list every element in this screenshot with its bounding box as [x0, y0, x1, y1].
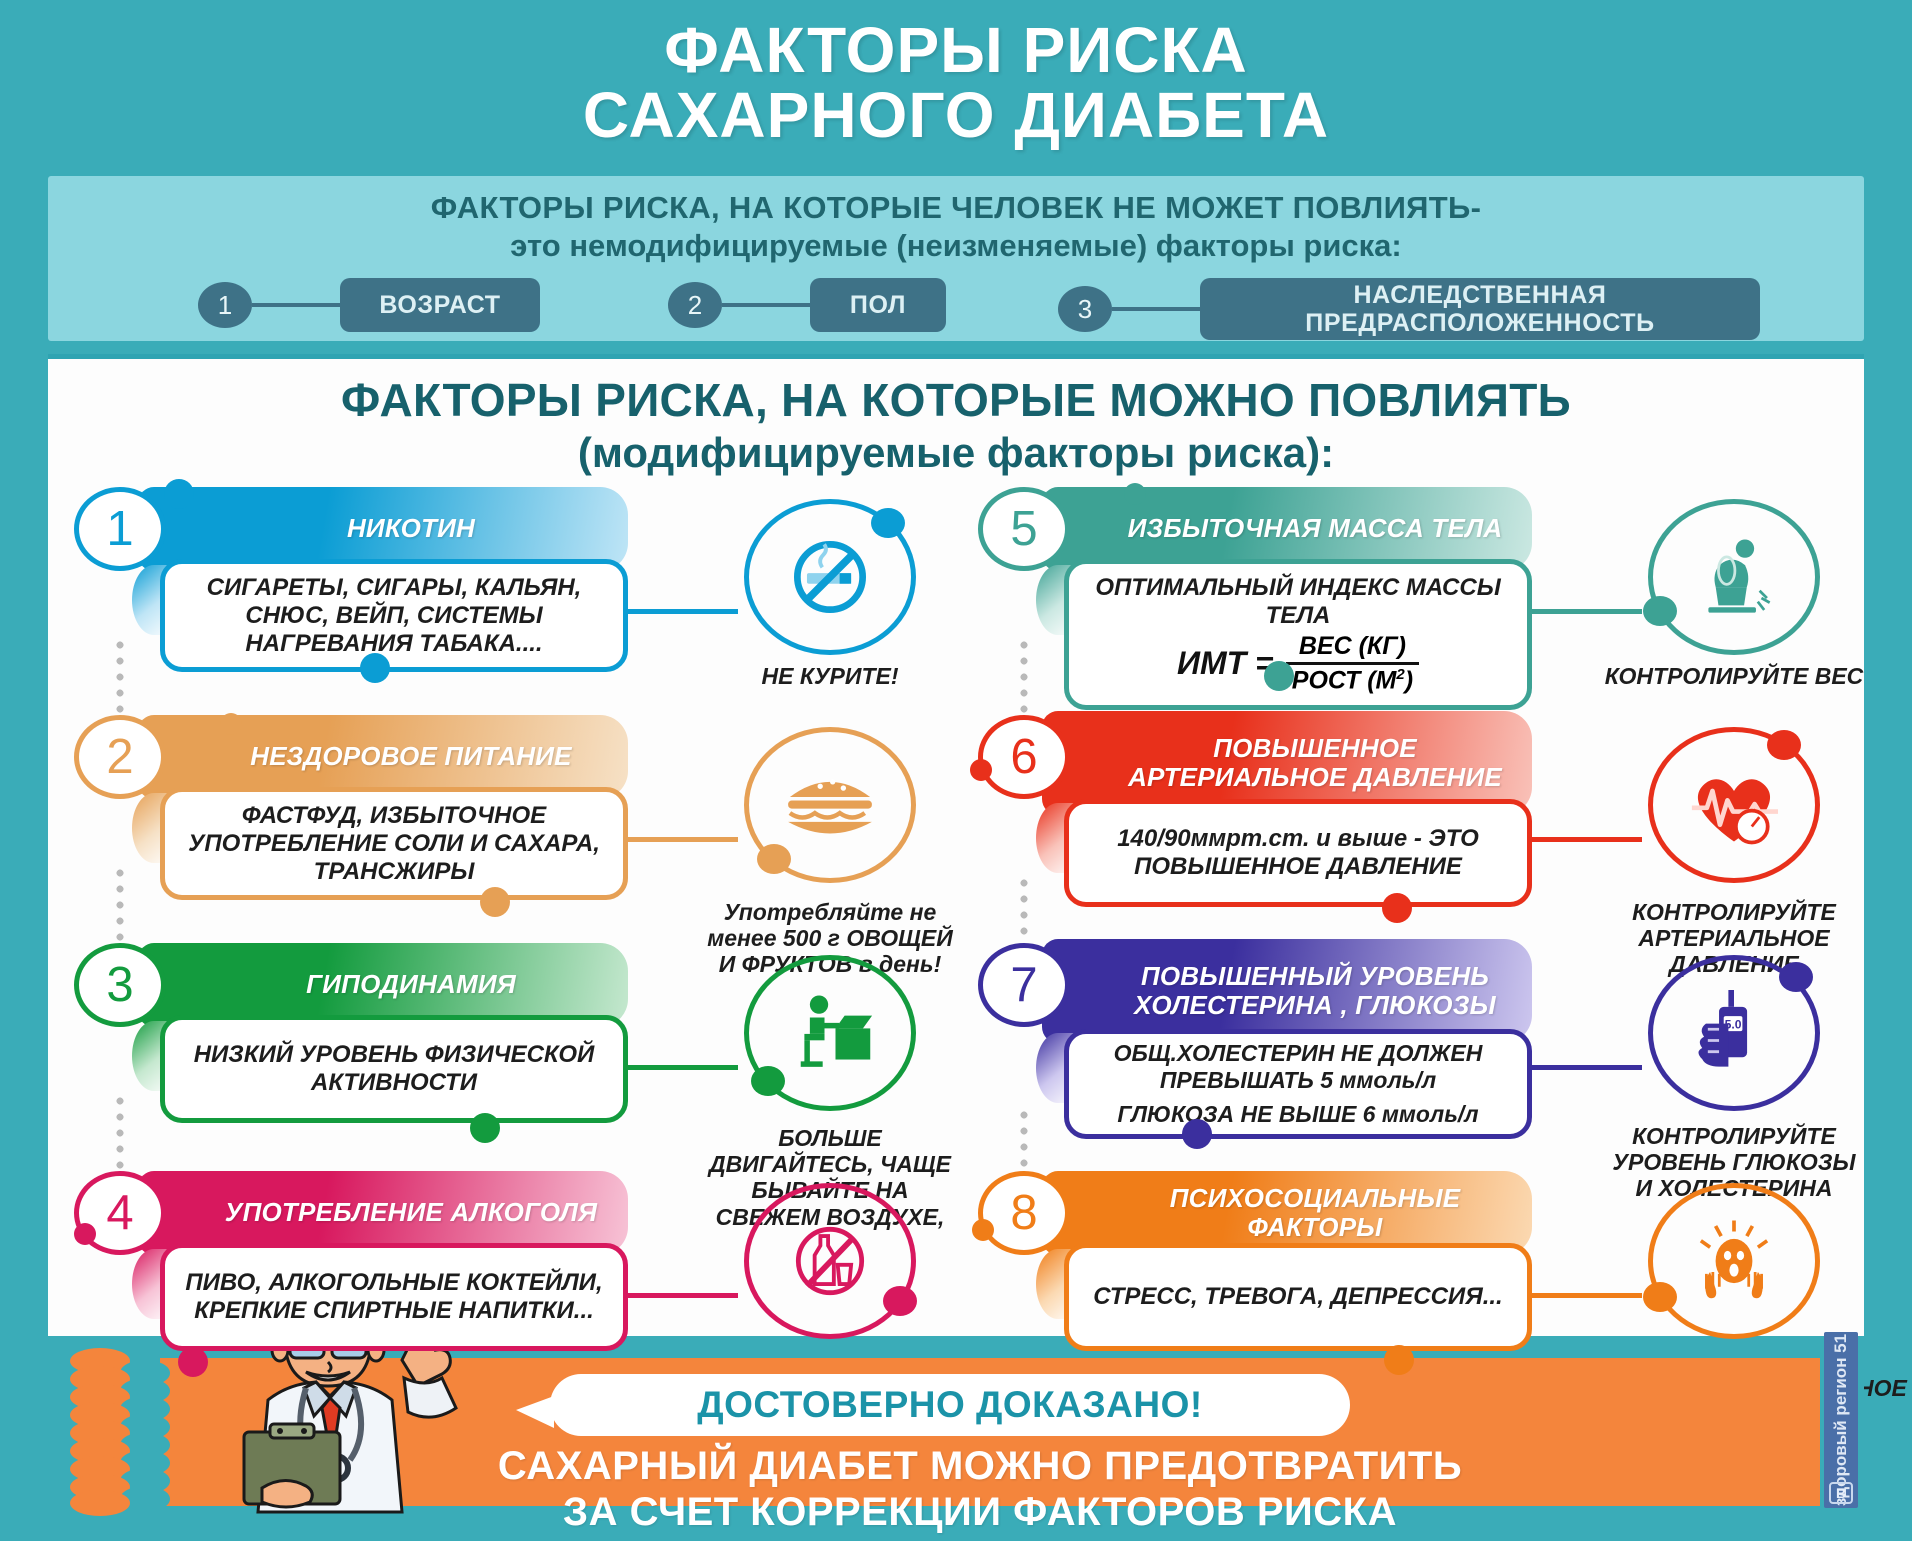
card-icon-connector — [1530, 1065, 1642, 1070]
card-dot-top — [1124, 483, 1146, 505]
card-number-badge: 1 — [74, 487, 166, 571]
card-icon-caption: КОНТРОЛИРУЙТЕ ВЕС — [1604, 663, 1864, 689]
card-dot-top — [220, 713, 242, 735]
orbit-dot — [1643, 1282, 1677, 1312]
card-icon-connector — [1530, 1293, 1642, 1298]
non-modifiable-item-3: 3 НАСЛЕДСТВЕННАЯ ПРЕДРАСПОЛОЖЕННОСТЬ — [1058, 278, 1760, 340]
title-line-2: САХАРНОГО ДИАБЕТА — [0, 83, 1912, 148]
stress-scream-icon — [1648, 1183, 1820, 1339]
card-dot-bottom — [1384, 1345, 1414, 1375]
no-alcohol-icon — [744, 1183, 916, 1339]
card-icon-block: КОНТРОЛИРУЙТЕ ВЕС — [1604, 499, 1864, 689]
non-modifiable-item-1: 1 ВОЗРАСТ — [198, 278, 540, 332]
card-body: ФАСТФУД, ИЗБЫТОЧНОЕ УПОТРЕБЛЕНИЕ СОЛИ И … — [160, 787, 628, 900]
card-body-text: СТРЕСС, ТРЕВОГА, ДЕПРЕССИЯ... — [1093, 1283, 1502, 1311]
card-body: СИГАРЕТЫ, СИГАРЫ, КАЛЬЯН, СНЮС, ВЕЙП, СИ… — [160, 559, 628, 672]
proven-speech-bubble: ДОСТОВЕРНО ДОКАЗАНО! — [550, 1374, 1350, 1436]
card-title: НЕЗДОРОВОЕ ПИТАНИЕ — [250, 742, 571, 771]
card-body-text: 140/90ммрт.ст. и выше - ЭТО ПОВЫШЕННОЕ Д… — [1085, 825, 1511, 881]
card-title: ГИПОДИНАМИЯ — [306, 970, 516, 999]
card-icon-caption: НЕ КУРИТЕ! — [700, 663, 960, 689]
orbit-dot — [1643, 596, 1677, 626]
card-icon-connector — [1530, 837, 1642, 842]
vk-badge-icon: B — [1829, 1482, 1853, 1504]
card-body: 140/90ммрт.ст. и выше - ЭТО ПОВЫШЕННОЕ Д… — [1064, 799, 1532, 907]
person-on-scale-icon — [1648, 499, 1820, 655]
orbit-dot — [883, 1286, 917, 1316]
card-body-text: ОБЩ.ХОЛЕСТЕРИН НЕ ДОЛЖЕН ПРЕВЫШАТЬ 5 ммо… — [1079, 1040, 1517, 1093]
card-number-badge: 3 — [74, 943, 166, 1027]
bmi-denominator: РОСТ (М2) — [1286, 665, 1419, 695]
sitting-at-desk-icon — [744, 955, 916, 1111]
watermark-text: здоровый регион 51 — [1831, 1334, 1851, 1506]
modifiable-panel: ФАКТОРЫ РИСКА, НА КОТОРЫЕ МОЖНО ПОВЛИЯТЬ… — [48, 354, 1864, 1336]
non-modifiable-chip-row: 1 ВОЗРАСТ 2 ПОЛ 3 НАСЛЕДСТВЕННАЯ ПРЕДРАС… — [48, 278, 1864, 340]
card-title: ПОВЫШЕННЫЙ УРОВЕНЬ ХОЛЕСТЕРИНА , ГЛЮКОЗЫ — [1112, 962, 1518, 1020]
risk-card-high-blood-pressure[interactable]: ПОВЫШЕННОЕ АРТЕРИАЛЬНОЕ ДАВЛЕНИЕ 6 140/9… — [964, 709, 1864, 937]
card-body-text: ОПТИМАЛЬНЫЙ ИНДЕКС МАССЫ ТЕЛА — [1085, 574, 1511, 630]
bmi-denominator-sup: 2 — [1396, 666, 1404, 683]
card-dot-bottom — [1182, 1119, 1212, 1149]
card-header-pill: ПОВЫШЕННЫЙ УРОВЕНЬ ХОЛЕСТЕРИНА , ГЛЮКОЗЫ — [1042, 939, 1532, 1043]
card-dot-bottom — [1264, 661, 1294, 691]
bmi-label: ИМТ = — [1177, 645, 1274, 682]
proven-text: ДОСТОВЕРНО ДОКАЗАНО! — [697, 1384, 1202, 1426]
orbit-dot — [871, 508, 905, 538]
modifiable-heading-1: ФАКТОРЫ РИСКА, НА КОТОРЫЕ МОЖНО ПОВЛИЯТЬ — [48, 373, 1864, 427]
risk-card-unhealthy-diet[interactable]: НЕЗДОРОВОЕ ПИТАНИЕ 2 ФАСТФУД, ИЗБЫТОЧНОЕ… — [60, 709, 960, 937]
card-body-text: СИГАРЕТЫ, СИГАРЫ, КАЛЬЯН, СНЮС, ВЕЙП, СИ… — [181, 574, 607, 657]
orbit-dot — [757, 844, 791, 874]
card-body-text: ПИВО, АЛКОГОЛЬНЫЕ КОКТЕЙЛИ, КРЕПКИЕ СПИР… — [181, 1269, 607, 1325]
card-body-text: ФАСТФУД, ИЗБЫТОЧНОЕ УПОТРЕБЛЕНИЕ СОЛИ И … — [181, 802, 607, 885]
card-icon-block: НЕ КУРИТЕ! — [700, 499, 960, 689]
burger-icon — [744, 727, 916, 883]
glucometer-icon: 5.0 — [1648, 955, 1820, 1111]
risk-card-physical-inactivity[interactable]: ГИПОДИНАМИЯ 3 НИЗКИЙ УРОВЕНЬ ФИЗИЧЕСКОЙ … — [60, 937, 960, 1165]
chip-connector-3 — [1112, 307, 1200, 311]
card-dot-top — [164, 479, 194, 509]
card-body: СТРЕСС, ТРЕВОГА, ДЕПРЕССИЯ... — [1064, 1243, 1532, 1351]
modifiable-heading-2: (модифицируемые факторы риска): — [48, 429, 1864, 477]
orbit-dot — [1779, 962, 1813, 992]
card-dot-top — [970, 759, 992, 781]
non-modifiable-heading-2: это немодифицируемые (неизменяемые) факт… — [48, 228, 1864, 264]
card-icon-connector — [626, 1065, 738, 1070]
card-dot-bottom — [360, 653, 390, 683]
risk-card-excess-weight[interactable]: ИЗБЫТОЧНАЯ МАССА ТЕЛА 5 ОПТИМАЛЬНЫЙ ИНДЕ… — [964, 481, 1864, 709]
risk-card-cholesterol-glucose[interactable]: ПОВЫШЕННЫЙ УРОВЕНЬ ХОЛЕСТЕРИНА , ГЛЮКОЗЫ… — [964, 937, 1864, 1165]
chip-label-sex: ПОЛ — [810, 278, 946, 332]
card-title: ПОВЫШЕННОЕ АРТЕРИАЛЬНОЕ ДАВЛЕНИЕ — [1112, 734, 1518, 792]
card-number-badge: 5 — [978, 487, 1070, 571]
card-number-badge: 2 — [74, 715, 166, 799]
no-smoking-icon — [744, 499, 916, 655]
card-icon-connector — [626, 609, 738, 614]
card-icon-connector — [626, 1293, 738, 1298]
card-icon-connector — [626, 837, 738, 842]
chip-label-age: ВОЗРАСТ — [340, 278, 540, 332]
card-dot-bottom — [1382, 893, 1412, 923]
card-body: НИЗКИЙ УРОВЕНЬ ФИЗИЧЕСКОЙ АКТИВНОСТИ — [160, 1015, 628, 1123]
bmi-denominator-text: РОСТ (М — [1292, 666, 1397, 694]
heart-pulse-icon — [1648, 727, 1820, 883]
non-modifiable-item-2: 2 ПОЛ — [668, 278, 946, 332]
modifiable-column-right: ИЗБЫТОЧНАЯ МАССА ТЕЛА 5 ОПТИМАЛЬНЫЙ ИНДЕ… — [964, 481, 1864, 1393]
risk-card-nicotine[interactable]: НИКОТИН 1 СИГАРЕТЫ, СИГАРЫ, КАЛЬЯН, СНЮС… — [60, 481, 960, 709]
card-title: ИЗБЫТОЧНАЯ МАССА ТЕЛА — [1128, 514, 1503, 543]
bmi-numerator: ВЕС (КГ) — [1286, 632, 1419, 665]
card-body: ОПТИМАЛЬНЫЙ ИНДЕКС МАССЫ ТЕЛА ИМТ = ВЕС … — [1064, 559, 1532, 710]
bmi-fraction: ВЕС (КГ) РОСТ (М2) — [1286, 632, 1419, 695]
chip-number-2: 2 — [668, 282, 722, 328]
card-number-badge: 6 — [978, 715, 1070, 799]
vk-watermark[interactable]: здоровый регион 51 B — [1824, 1332, 1858, 1508]
card-dot-bottom — [470, 1113, 500, 1143]
card-dot-top — [972, 1219, 994, 1241]
card-dot-top — [74, 1223, 96, 1245]
card-title: УПОТРЕБЛЕНИЕ АЛКОГОЛЯ — [225, 1198, 597, 1227]
banner-line-1: САХАРНЫЙ ДИАБЕТ МОЖНО ПРЕДОТВРАТИТЬ — [390, 1444, 1570, 1489]
card-body: ОБЩ.ХОЛЕСТЕРИН НЕ ДОЛЖЕН ПРЕВЫШАТЬ 5 ммо… — [1064, 1029, 1532, 1139]
chip-number-1: 1 — [198, 282, 252, 328]
card-body-text-secondary: ГЛЮКОЗА НЕ ВЫШЕ 6 ммоль/л — [1117, 1101, 1478, 1128]
modifiable-column-left: НИКОТИН 1 СИГАРЕТЫ, СИГАРЫ, КАЛЬЯН, СНЮС… — [60, 481, 960, 1393]
title-line-1: ФАКТОРЫ РИСКА — [0, 18, 1912, 83]
orbit-dot — [1767, 730, 1801, 760]
banner-scallop-edge — [60, 1358, 160, 1506]
card-number-badge: 8 — [978, 1171, 1070, 1255]
banner-orange-area: ДОСТОВЕРНО ДОКАЗАНО! САХАРНЫЙ ДИАБЕТ МОЖ… — [60, 1358, 1820, 1506]
card-dot-bottom — [480, 887, 510, 917]
card-body-text: НИЗКИЙ УРОВЕНЬ ФИЗИЧЕСКОЙ АКТИВНОСТИ — [181, 1041, 607, 1097]
bmi-denominator-tail: ) — [1405, 666, 1413, 694]
bmi-formula: ИМТ = ВЕС (КГ) РОСТ (М2) — [1177, 632, 1419, 695]
poster-title: ФАКТОРЫ РИСКА САХАРНОГО ДИАБЕТА — [0, 18, 1912, 149]
card-title: НИКОТИН — [347, 514, 475, 543]
card-dot-bottom — [178, 1347, 208, 1377]
non-modifiable-heading-1: ФАКТОРЫ РИСКА, НА КОТОРЫЕ ЧЕЛОВЕК НЕ МОЖ… — [48, 190, 1864, 226]
chip-connector-2 — [722, 303, 810, 307]
bottom-banner: ДОСТОВЕРНО ДОКАЗАНО! САХАРНЫЙ ДИАБЕТ МОЖ… — [48, 1348, 1864, 1516]
orbit-dot — [751, 1066, 785, 1096]
card-body: ПИВО, АЛКОГОЛЬНЫЕ КОКТЕЙЛИ, КРЕПКИЕ СПИР… — [160, 1243, 628, 1351]
card-icon-connector — [1530, 609, 1642, 614]
poster-root: ФАКТОРЫ РИСКА САХАРНОГО ДИАБЕТА ФАКТОРЫ … — [0, 0, 1912, 1541]
banner-line-2: ЗА СЧЕТ КОРРЕКЦИИ ФАКТОРОВ РИСКА — [390, 1490, 1570, 1535]
card-number-badge: 7 — [978, 943, 1070, 1027]
non-modifiable-panel: ФАКТОРЫ РИСКА, НА КОТОРЫЕ ЧЕЛОВЕК НЕ МОЖ… — [48, 176, 1864, 341]
chip-number-3: 3 — [1058, 286, 1112, 332]
card-title: ПСИХОСОЦИАЛЬНЫЕ ФАКТОРЫ — [1112, 1184, 1518, 1242]
chip-connector-1 — [252, 303, 340, 307]
chip-label-heredity: НАСЛЕДСТВЕННАЯ ПРЕДРАСПОЛОЖЕННОСТЬ — [1200, 278, 1760, 340]
